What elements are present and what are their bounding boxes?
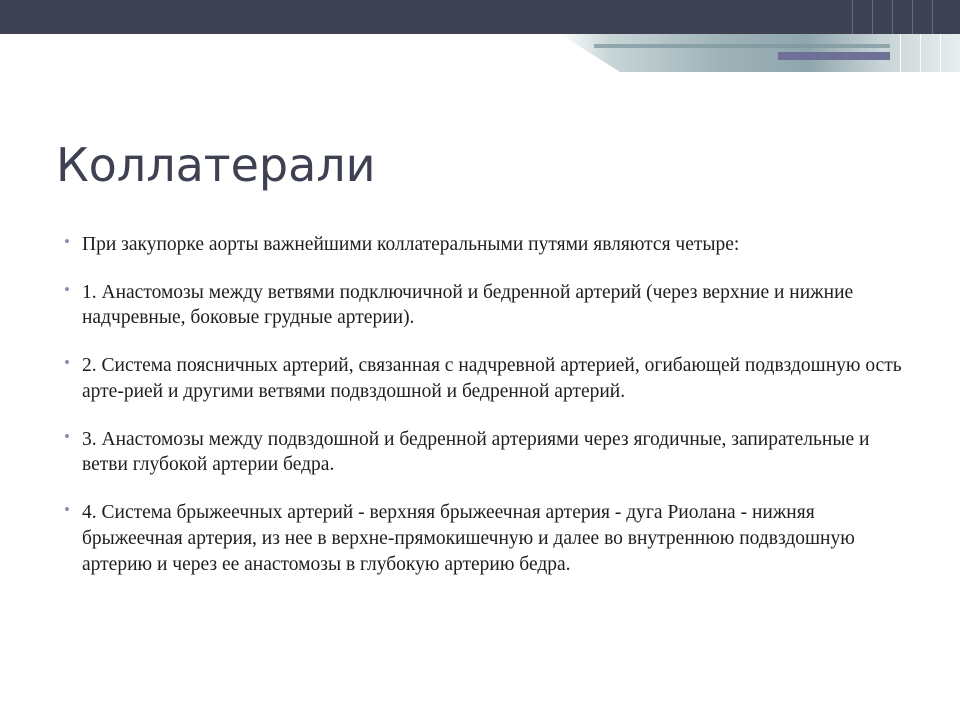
band-hairline [872, 0, 873, 34]
band-hairline [892, 0, 893, 34]
header-accent-triangle [560, 34, 620, 72]
header-band [0, 0, 960, 34]
bullet-item: 3. Анастомозы между подвздошной и бедрен… [62, 427, 910, 478]
bullet-item: 1. Анастомозы между ветвями подключичной… [62, 280, 910, 331]
bullet-item: При закупорке аорты важнейшими коллатера… [62, 232, 910, 258]
header-accent-teal-bar [594, 44, 890, 48]
wedge-divider [940, 34, 941, 72]
band-hairline [932, 0, 933, 34]
wedge-divider [920, 34, 921, 72]
bullet-item: 4. Система брыжеечных артерий - верхняя … [62, 500, 910, 577]
band-hairline [852, 0, 853, 34]
header-accent-purple-bar [778, 52, 890, 60]
slide: Коллатерали При закупорке аорты важнейши… [0, 0, 960, 720]
band-hairline [912, 0, 913, 34]
bullet-item: 2. Система поясничных артерий, связанная… [62, 353, 910, 404]
slide-title: Коллатерали [56, 140, 376, 191]
wedge-divider [900, 34, 901, 72]
slide-body: При закупорке аорты важнейшими коллатера… [62, 232, 910, 577]
